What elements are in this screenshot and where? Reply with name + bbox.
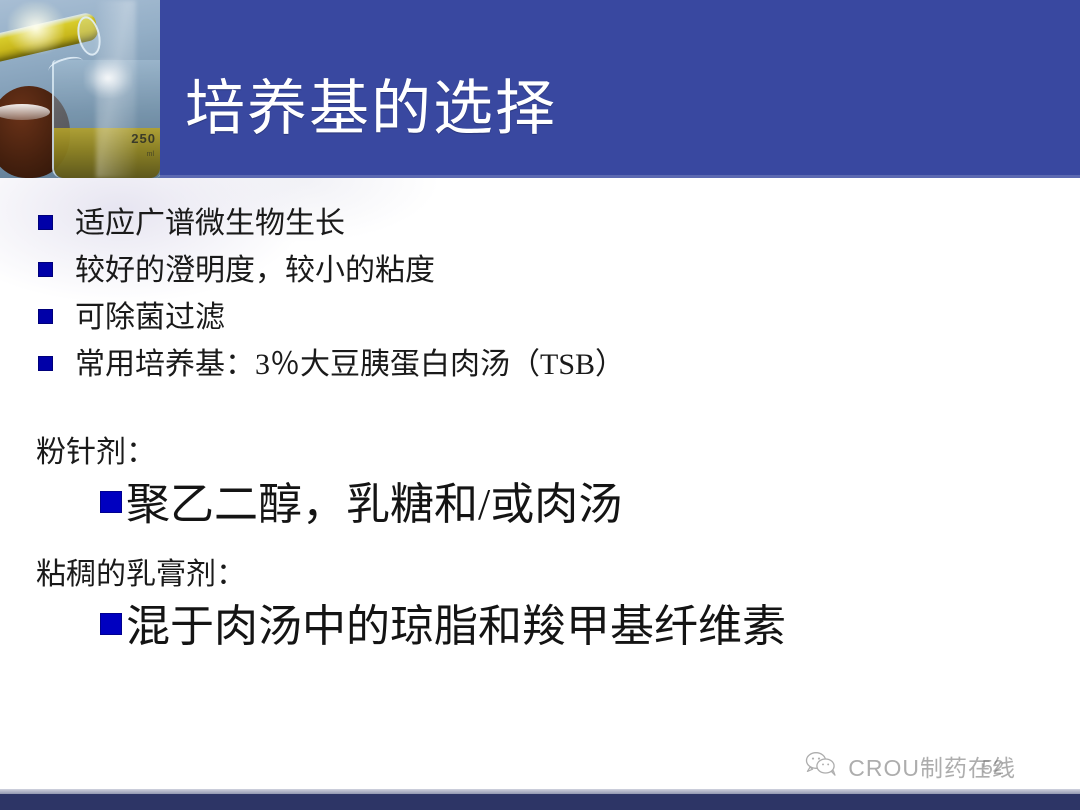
section-viscous-cream: 粘稠的乳膏剂： 混于肉汤中的琼脂和羧甲基纤维素 bbox=[36, 556, 1056, 654]
square-bullet-icon bbox=[38, 262, 53, 277]
bullet-list: 适应广谱微生物生长 较好的澄明度，较小的粘度 可除菌过滤 常用培养基：3％大豆胰… bbox=[38, 204, 1038, 392]
photo-glare bbox=[96, 0, 136, 178]
square-bullet-icon bbox=[38, 309, 53, 324]
slide-root: 250 ml 培养基的选择 适应广谱微生物生长 较好的澄明度，较小的粘度 可除菌… bbox=[0, 0, 1080, 810]
watermark-label: CROU制药在线 bbox=[848, 749, 1016, 783]
square-bullet-icon bbox=[38, 356, 53, 371]
list-item-label: 常用培养基：3％大豆胰蛋白肉汤（TSB） bbox=[75, 345, 625, 385]
square-bullet-icon bbox=[100, 613, 122, 635]
photo-highlight-top bbox=[8, 2, 64, 54]
square-bullet-icon bbox=[38, 215, 53, 230]
slide-body: 适应广谱微生物生长 较好的澄明度，较小的粘度 可除菌过滤 常用培养基：3％大豆胰… bbox=[0, 178, 1080, 795]
laboratory-glassware-photo: 250 ml bbox=[0, 0, 160, 178]
square-bullet-icon bbox=[100, 491, 122, 513]
list-item: 较好的澄明度，较小的粘度 bbox=[38, 251, 1038, 298]
wechat-icon bbox=[805, 751, 839, 782]
watermark: CROU制药在线 bbox=[805, 749, 1016, 783]
footer-strip bbox=[0, 794, 1080, 810]
section-powder-injection: 粉针剂： 聚乙二醇，乳糖和/或肉汤 bbox=[36, 434, 1056, 532]
photo-beaker-label: 250 bbox=[131, 131, 156, 146]
sub-list-item-label: 混于肉汤中的琼脂和羧甲基纤维素 bbox=[126, 600, 786, 654]
list-item: 可除菌过滤 bbox=[38, 298, 1038, 345]
sub-list-item-label: 聚乙二醇，乳糖和/或肉汤 bbox=[126, 478, 622, 532]
list-item-label: 适应广谱微生物生长 bbox=[75, 204, 345, 244]
section-label: 粉针剂： bbox=[36, 434, 1056, 472]
list-item: 常用培养基：3％大豆胰蛋白肉汤（TSB） bbox=[38, 345, 1038, 392]
list-item: 适应广谱微生物生长 bbox=[38, 204, 1038, 251]
list-item-label: 可除菌过滤 bbox=[75, 298, 225, 338]
list-item-label: 较好的澄明度，较小的粘度 bbox=[75, 251, 435, 291]
photo-beaker-sublabel: ml bbox=[147, 151, 154, 158]
section-label: 粘稠的乳膏剂： bbox=[36, 556, 1056, 594]
sub-list-item: 聚乙二醇，乳糖和/或肉汤 bbox=[100, 478, 1056, 532]
page-title: 培养基的选择 bbox=[185, 74, 557, 144]
sub-list-item: 混于肉汤中的琼脂和羧甲基纤维素 bbox=[100, 600, 1056, 654]
